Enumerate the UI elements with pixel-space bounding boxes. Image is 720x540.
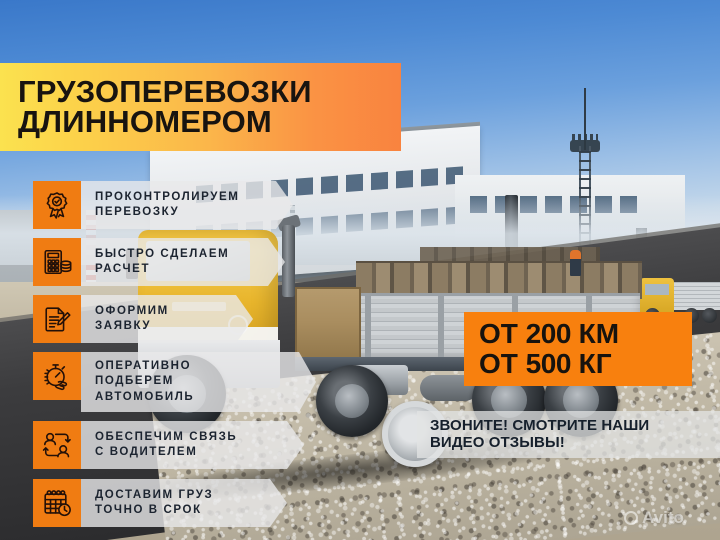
- feature-label-panel: ОПЕРАТИВНО ПОДБЕРЕМ АВТОМОБИЛЬ: [81, 352, 316, 412]
- feature-line-2: ЗАЯВКУ: [95, 319, 223, 334]
- feature-line-2: С ВОДИТЕЛЕМ: [95, 445, 274, 460]
- feature-label-panel: ОФОРМИМ ЗАЯВКУ: [81, 295, 253, 343]
- avito-watermark: Avito: [624, 508, 684, 528]
- cta-line-2: ВИДЕО ОТЗЫВЫ!: [430, 435, 720, 452]
- feature-line-2: РАСЧЕТ: [95, 262, 255, 277]
- calculator-icon: [33, 238, 81, 286]
- avito-watermark-text: Avito: [642, 508, 684, 528]
- feature-line-1: ОФОРМИМ: [95, 304, 223, 319]
- headline-line-1: ГРУЗОПЕРЕВОЗКИ: [18, 77, 401, 107]
- cta-line-1: ЗВОНИТЕ! СМОТРИТЕ НАШИ: [430, 418, 720, 435]
- feature-label-panel: ПРОКОНТРОЛИРУЕМ ПЕРЕВОЗКУ: [81, 181, 293, 229]
- two-people-icon: [33, 421, 81, 469]
- feature-label-panel: БЫСТРО СДЕЛАЕМ РАСЧЕТ: [81, 238, 285, 286]
- feature-line-1: ПРОКОНТРОЛИРУЕМ: [95, 190, 263, 205]
- price-badge: ОТ 200 КМ ОТ 500 КГ: [464, 312, 692, 386]
- feature-list: ПРОКОНТРОЛИРУЕМ ПЕРЕВОЗКУ: [33, 181, 373, 534]
- award-badge-icon: [33, 181, 81, 229]
- feature-item[interactable]: ОФОРМИМ ЗАЯВКУ: [33, 295, 373, 343]
- feature-line-2: ПОДБЕРЕМ: [95, 374, 286, 389]
- feature-line-2: ПЕРЕВОЗКУ: [95, 205, 263, 220]
- worker-figure: [570, 250, 581, 276]
- document-pen-icon: [33, 295, 81, 343]
- feature-line-1: БЫСТРО СДЕЛАЕМ: [95, 247, 255, 262]
- price-line-2: ОТ 500 КГ: [479, 349, 692, 379]
- price-distance-value: 200: [526, 318, 571, 349]
- price-weight-value: 500: [526, 348, 571, 379]
- price-distance-unit: КМ: [571, 318, 619, 349]
- feature-line-1: ОБЕСПЕЧИМ СВЯЗЬ: [95, 430, 274, 445]
- price-weight-unit: КГ: [571, 348, 612, 379]
- feature-item[interactable]: ОПЕРАТИВНО ПОДБЕРЕМ АВТОМОБИЛЬ: [33, 352, 373, 412]
- feature-item[interactable]: ОБЕСПЕЧИМ СВЯЗЬ С ВОДИТЕЛЕМ: [33, 421, 373, 469]
- feature-line-1: ДОСТАВИМ ГРУЗ: [95, 488, 257, 503]
- stopwatch-hand-icon: [33, 352, 81, 400]
- feature-item[interactable]: ПРОКОНТРОЛИРУЕМ ПЕРЕВОЗКУ: [33, 181, 373, 229]
- avito-logo-icon: [624, 511, 638, 525]
- feature-label-panel: ОБЕСПЕЧИМ СВЯЗЬ С ВОДИТЕЛЕМ: [81, 421, 304, 469]
- feature-line-2: ТОЧНО В СРОК: [95, 503, 257, 518]
- feature-item[interactable]: БЫСТРО СДЕЛАЕМ РАСЧЕТ: [33, 238, 373, 286]
- feature-label-panel: ДОСТАВИМ ГРУЗ ТОЧНО В СРОК: [81, 479, 287, 527]
- call-to-action-band[interactable]: ЗВОНИТЕ! СМОТРИТЕ НАШИ ВИДЕО ОТЗЫВЫ!: [417, 411, 720, 458]
- advertisement-banner: ГРУЗОПЕРЕВОЗКИ ДЛИННОМЕРОМ ПРОКОНТРОЛИРУ…: [0, 0, 720, 540]
- calendar-clock-icon: [33, 479, 81, 527]
- feature-line-3: АВТОМОБИЛЬ: [95, 390, 286, 405]
- feature-item[interactable]: ДОСТАВИМ ГРУЗ ТОЧНО В СРОК: [33, 479, 373, 527]
- price-line-1: ОТ 200 КМ: [479, 319, 692, 349]
- feature-line-1: ОПЕРАТИВНО: [95, 359, 286, 374]
- price-prefix: ОТ: [479, 348, 526, 379]
- bed-post: [438, 293, 444, 359]
- price-prefix: ОТ: [479, 318, 526, 349]
- headline-banner: ГРУЗОПЕРЕВОЗКИ ДЛИННОМЕРОМ: [0, 63, 401, 151]
- headline-line-2: ДЛИННОМЕРОМ: [18, 107, 401, 137]
